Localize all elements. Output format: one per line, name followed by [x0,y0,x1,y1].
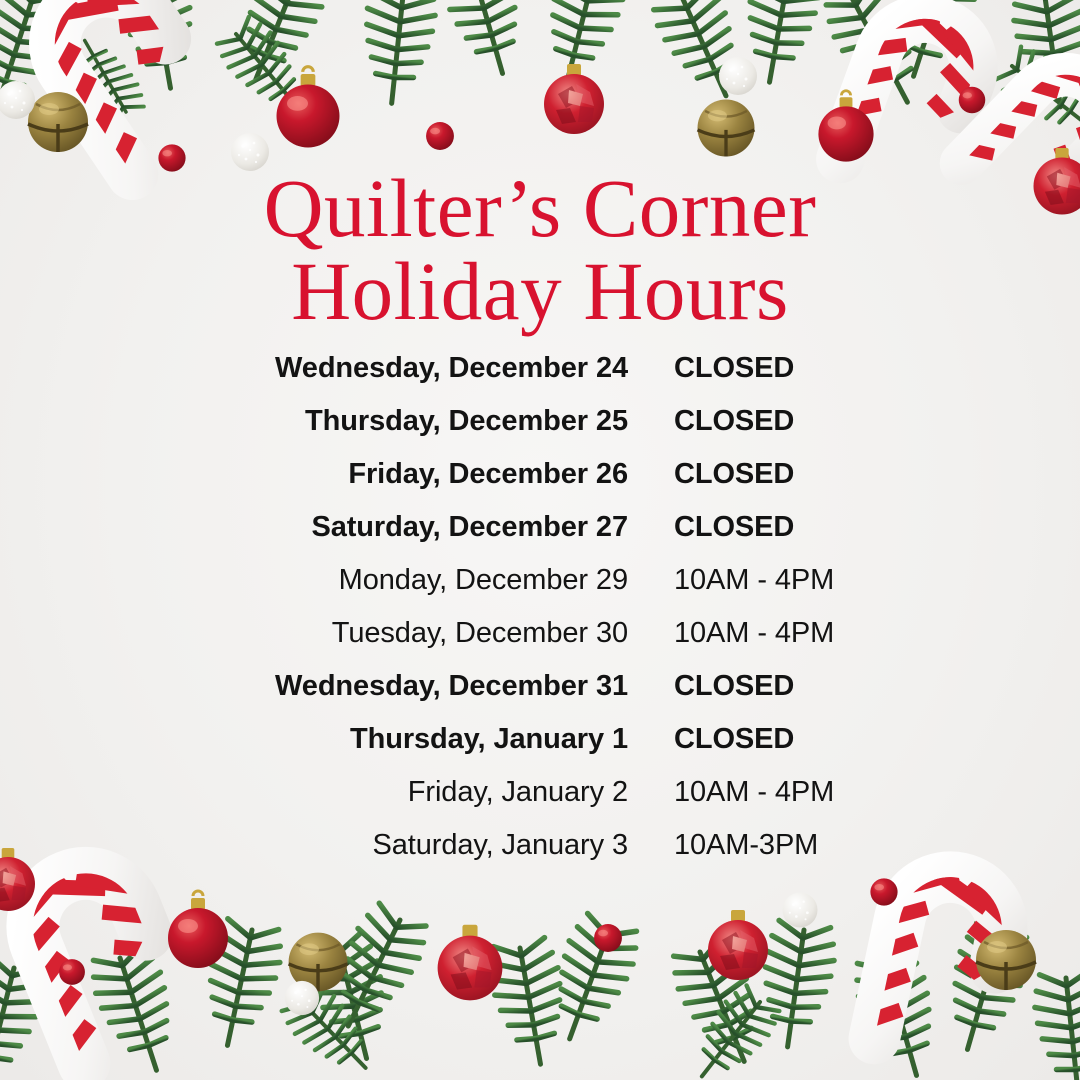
hours-day-label: Tuesday, December 30 [0,617,628,650]
hours-time-value: CLOSED [628,723,1080,756]
hours-time-value: CLOSED [628,458,1080,491]
hours-row: Wednesday, December 24CLOSED [0,352,1080,405]
hours-time-value: CLOSED [628,405,1080,438]
hours-day-label: Saturday, December 27 [0,511,628,544]
hours-row: Friday, January 210AM - 4PM [0,776,1080,829]
holiday-hours-poster: Quilter’s Corner Holiday Hours Wednesday… [0,0,1080,1080]
hours-day-label: Wednesday, December 24 [0,352,628,385]
title-line-holiday-hours: Holiday Hours [0,251,1080,332]
title-line-shop-name: Quilter’s Corner [0,168,1080,249]
hours-row: Wednesday, December 31CLOSED [0,670,1080,723]
hours-row: Friday, December 26CLOSED [0,458,1080,511]
poster-content: Quilter’s Corner Holiday Hours Wednesday… [0,0,1080,1080]
hours-time-value: 10AM - 4PM [628,564,1080,597]
hours-time-value: CLOSED [628,670,1080,703]
hours-time-value: 10AM - 4PM [628,776,1080,809]
hours-day-label: Wednesday, December 31 [0,670,628,703]
hours-time-value: 10AM - 4PM [628,617,1080,650]
hours-day-label: Saturday, January 3 [0,829,628,862]
hours-day-label: Thursday, January 1 [0,723,628,756]
hours-row: Monday, December 2910AM - 4PM [0,564,1080,617]
hours-row: Saturday, January 310AM-3PM [0,829,1080,882]
hours-row: Saturday, December 27CLOSED [0,511,1080,564]
hours-day-label: Monday, December 29 [0,564,628,597]
hours-day-label: Friday, December 26 [0,458,628,491]
holiday-hours-list: Wednesday, December 24CLOSEDThursday, De… [0,352,1080,882]
hours-day-label: Thursday, December 25 [0,405,628,438]
hours-time-value: 10AM-3PM [628,829,1080,862]
poster-title: Quilter’s Corner Holiday Hours [0,168,1080,331]
hours-row: Thursday, December 25CLOSED [0,405,1080,458]
hours-time-value: CLOSED [628,511,1080,544]
hours-day-label: Friday, January 2 [0,776,628,809]
hours-time-value: CLOSED [628,352,1080,385]
hours-row: Thursday, January 1CLOSED [0,723,1080,776]
hours-row: Tuesday, December 3010AM - 4PM [0,617,1080,670]
